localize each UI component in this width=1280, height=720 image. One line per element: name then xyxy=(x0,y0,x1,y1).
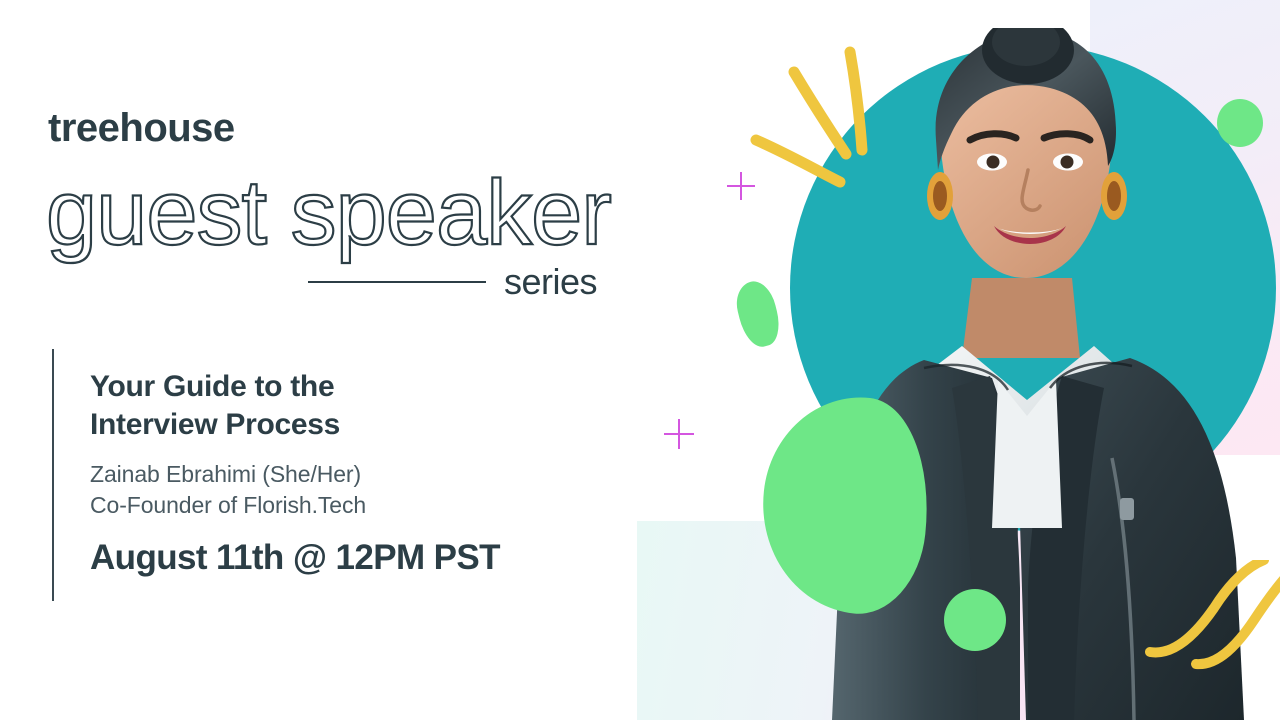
series-divider-rule xyxy=(308,281,486,283)
brand-wordmark: treehouse xyxy=(48,108,235,148)
plus-mark-middle-icon xyxy=(664,419,694,449)
talk-title-line-2: Interview Process xyxy=(90,406,630,444)
headline-outline-text: guest speaker xyxy=(46,162,611,264)
talk-title-line-1: Your Guide to the xyxy=(90,368,630,406)
sparkle-burst-icon xyxy=(740,30,920,190)
green-blob-small xyxy=(732,277,785,350)
speaker-role: Co-Founder of Florish.Tech xyxy=(90,490,630,521)
info-vertical-rule xyxy=(52,349,54,601)
session-datetime: August 11th @ 12PM PST xyxy=(90,539,630,578)
wavy-lines-icon xyxy=(1140,560,1280,680)
promo-slide: treehouse guest speaker series Your Guid… xyxy=(0,0,1280,720)
session-info-block: Your Guide to the Interview Process Zain… xyxy=(90,368,630,577)
speaker-name: Zainab Ebrahimi (She/Her) xyxy=(90,459,630,490)
series-row: series xyxy=(308,262,628,302)
series-label: series xyxy=(504,262,597,302)
talk-title: Your Guide to the Interview Process xyxy=(90,368,630,445)
headline-guest-speaker: guest speaker xyxy=(36,160,656,270)
green-circle-bottom xyxy=(944,589,1006,651)
